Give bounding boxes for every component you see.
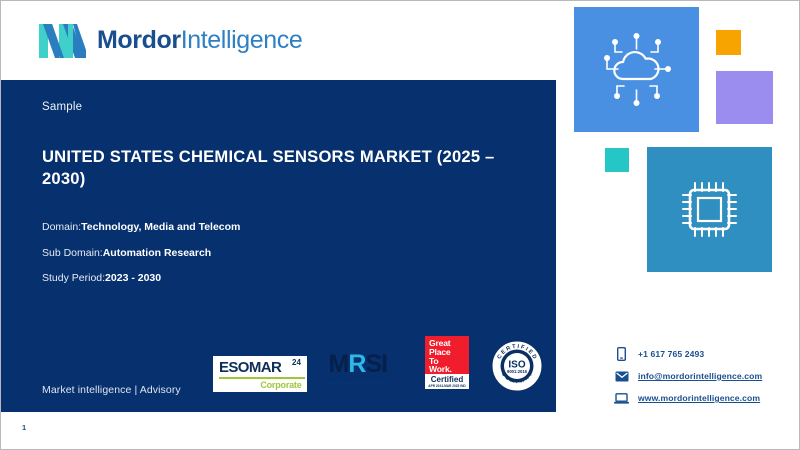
brand-logo[interactable]: MordorIntelligence bbox=[39, 24, 302, 58]
esomar-divider bbox=[219, 377, 305, 379]
meta-value-domain: Technology, Media and Telecom bbox=[81, 221, 240, 233]
purple-square bbox=[716, 71, 773, 124]
cloud-network-tile bbox=[574, 7, 699, 132]
meta-value-study-period: 2023 - 2030 bbox=[105, 272, 161, 284]
cloud-network-icon bbox=[574, 7, 699, 132]
contact-phone-text: +1 617 765 2493 bbox=[638, 349, 704, 359]
contact-row-phone[interactable]: +1 617 765 2493 bbox=[614, 347, 762, 361]
meta-key-domain: Domain: bbox=[42, 221, 81, 233]
header-bar: MordorIntelligence bbox=[1, 1, 561, 80]
esomar-superscript: 24 bbox=[292, 358, 301, 367]
contact-row-email[interactable]: info@mordorintelligence.com bbox=[614, 369, 762, 383]
meta-row-study-period: Study Period:2023 - 2030 bbox=[42, 273, 240, 284]
esomar-badge: ESOMAR 24 Corporate bbox=[213, 356, 307, 392]
mrsi-badge: MRSI Market Research Society of India bbox=[329, 352, 403, 392]
gptw-certified-label: Certified bbox=[425, 374, 469, 384]
mrsi-letter-r: R bbox=[348, 350, 365, 378]
report-metadata: Domain:Technology, Media and Telecom Sub… bbox=[42, 222, 240, 299]
contact-website-text[interactable]: www.mordorintelligence.com bbox=[638, 393, 760, 403]
contact-block: +1 617 765 2493 info@mordorintelligence.… bbox=[614, 347, 762, 405]
mrsi-wordmark: MRSI bbox=[329, 352, 407, 377]
orange-square bbox=[716, 30, 741, 55]
gptw-red-block: Great Place To Work. bbox=[425, 336, 469, 374]
mrsi-letter-m: M bbox=[329, 350, 349, 378]
microchip-tile bbox=[647, 147, 772, 272]
phone-icon bbox=[614, 347, 629, 361]
gptw-line-4: Work. bbox=[429, 365, 469, 374]
iso-badge: CERTIFIED COMPANY ISO 9001:2015 bbox=[491, 340, 543, 392]
page-number: 1 bbox=[22, 423, 26, 432]
gptw-certification-period: APR 2024-MAR 2025 IND bbox=[425, 384, 469, 389]
meta-key-study-period: Study Period: bbox=[42, 272, 105, 284]
slide-page: MordorIntelligence Sample UNITED STATES … bbox=[0, 0, 800, 450]
laptop-icon bbox=[614, 391, 629, 405]
meta-key-sub-domain: Sub Domain: bbox=[42, 247, 103, 259]
brand-name-bold: Mordor bbox=[97, 26, 181, 54]
title-panel: Sample UNITED STATES CHEMICAL SENSORS MA… bbox=[1, 80, 556, 412]
brand-wordmark: MordorIntelligence bbox=[97, 28, 302, 53]
page-title: UNITED STATES CHEMICAL SENSORS MARKET (2… bbox=[42, 146, 512, 190]
panel-tagline: Market intelligence | Advisory bbox=[42, 384, 181, 396]
microchip-icon bbox=[647, 147, 772, 272]
sample-label: Sample bbox=[42, 101, 82, 113]
mordor-m-logo-icon bbox=[39, 24, 86, 58]
brand-name-light: Intelligence bbox=[181, 26, 303, 54]
meta-row-domain: Domain:Technology, Media and Telecom bbox=[42, 222, 240, 233]
esomar-name: ESOMAR bbox=[219, 359, 281, 376]
mrsi-subtitle: Market Research Society of India bbox=[329, 381, 407, 385]
meta-value-sub-domain: Automation Research bbox=[103, 247, 212, 259]
certification-badges: ESOMAR 24 Corporate MRSI Market Research… bbox=[213, 336, 543, 392]
envelope-icon bbox=[614, 369, 629, 383]
meta-row-sub-domain: Sub Domain:Automation Research bbox=[42, 248, 240, 259]
teal-square bbox=[605, 148, 629, 172]
contact-row-website[interactable]: www.mordorintelligence.com bbox=[614, 391, 762, 405]
iso-seal-icon: CERTIFIED COMPANY ISO 9001:2015 bbox=[491, 340, 543, 392]
esomar-subtitle: Corporate bbox=[260, 380, 301, 390]
svg-text:9001:2015: 9001:2015 bbox=[507, 369, 528, 374]
contact-email-text[interactable]: info@mordorintelligence.com bbox=[638, 371, 762, 381]
great-place-to-work-badge: Great Place To Work. Certified APR 2024-… bbox=[425, 336, 469, 392]
mrsi-letters-si: SI bbox=[365, 350, 387, 378]
